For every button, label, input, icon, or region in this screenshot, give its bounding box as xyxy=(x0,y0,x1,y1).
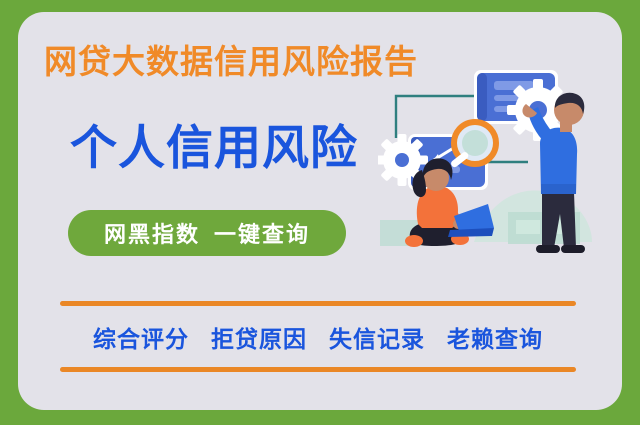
divider-line-top xyxy=(60,301,576,306)
magnifier-icon xyxy=(450,122,496,169)
cta-label: 网黑指数一键查询 xyxy=(104,217,310,249)
banner-subtitle: 个人信用风险 xyxy=(70,124,358,171)
banner-title: 网贷大数据信用风险报告 xyxy=(44,45,418,78)
footer-item-rejection-reason[interactable]: 拒贷原因 xyxy=(211,320,307,354)
footer-feature-list: 综合评分 拒贷原因 失信记录 老赖查询 xyxy=(60,315,576,359)
cta-label-right: 一键查询 xyxy=(214,222,310,247)
query-cta-button[interactable]: 网黑指数一键查询 xyxy=(68,210,346,256)
footer-item-debtor-lookup[interactable]: 老赖查询 xyxy=(447,320,543,354)
credit-risk-banner: 网贷大数据信用风险报告 个人信用风险 网黑指数一键查询 综合评分 拒贷原因 失信… xyxy=(0,0,640,425)
divider-line-bottom xyxy=(60,367,576,372)
footer-item-default-record[interactable]: 失信记录 xyxy=(329,320,425,354)
footer-item-score[interactable]: 综合评分 xyxy=(93,320,189,354)
cta-label-left: 网黑指数 xyxy=(104,222,200,247)
report-illustration xyxy=(378,52,622,280)
